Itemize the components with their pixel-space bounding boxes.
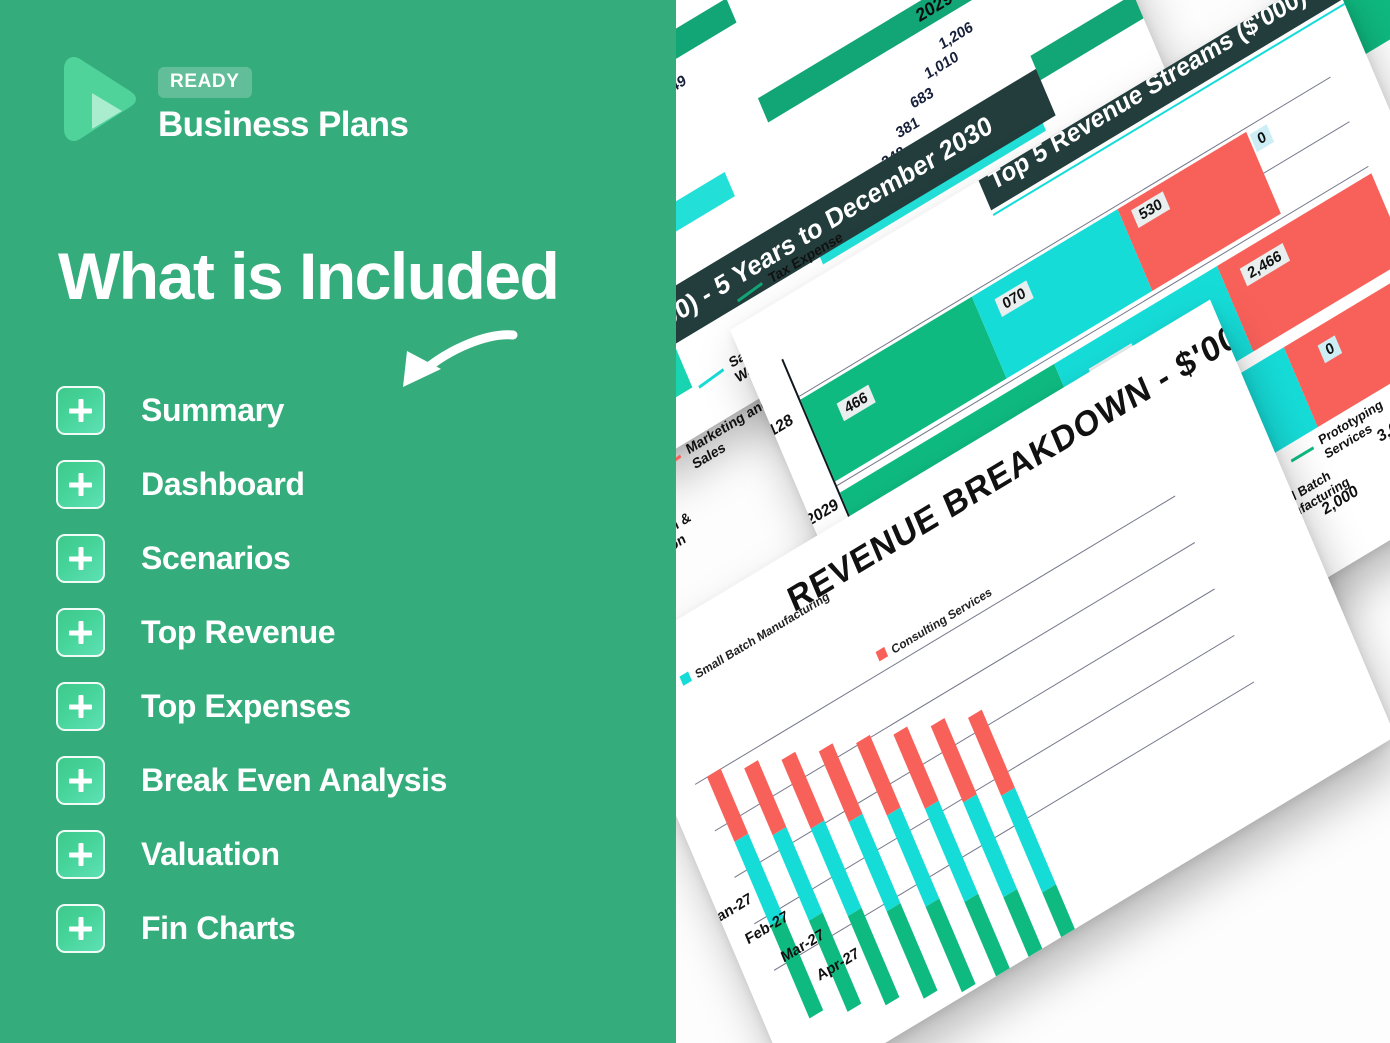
feature-item-scenarios[interactable]: Scenarios [56, 534, 656, 583]
feature-item-dashboard[interactable]: Dashboard [56, 460, 656, 509]
feature-item-top-expenses[interactable]: Top Expenses [56, 682, 656, 731]
feature-label: Dashboard [141, 466, 305, 503]
feature-list: Summary Dashboard Scenarios Top Revenue … [56, 386, 656, 978]
table-cell: 381 [894, 114, 922, 143]
feature-item-fin-charts[interactable]: Fin Charts [56, 904, 656, 953]
ready-badge: READY [158, 67, 252, 98]
plus-icon [56, 608, 105, 657]
left-green-panel: READY Business Plans What is Included Su… [0, 0, 676, 1043]
spreadsheet-artwork: Company Name Table of Contents 128.9 31 … [640, 0, 1390, 1043]
plus-icon [56, 534, 105, 583]
legend-label-consulting: Consulting Services [889, 584, 993, 656]
table-cell: 1,010 [922, 48, 961, 83]
feature-label: Break Even Analysis [141, 762, 447, 799]
feature-item-valuation[interactable]: Valuation [56, 830, 656, 879]
plus-icon [56, 460, 105, 509]
plus-icon [56, 386, 105, 435]
legend-marker-smallbatch [679, 671, 692, 685]
feature-label: Top Expenses [141, 688, 351, 725]
plus-icon [56, 756, 105, 805]
feature-item-summary[interactable]: Summary [56, 386, 656, 435]
feature-label: Scenarios [141, 540, 290, 577]
legend-marker-tax [737, 282, 763, 302]
play-triangle-icon [60, 55, 138, 143]
legend-marker-consulting [876, 647, 889, 661]
breakdown-month-label: Jan-27 [707, 890, 754, 930]
brand-text: READY Business Plans [158, 55, 408, 145]
feature-item-top-revenue[interactable]: Top Revenue [56, 608, 656, 657]
plus-icon [56, 904, 105, 953]
table-cell: 683 [908, 84, 936, 113]
brand-name: Business Plans [158, 105, 408, 145]
brand-lockup: READY Business Plans [60, 55, 408, 145]
feature-label: Top Revenue [141, 614, 335, 651]
feature-label: Summary [141, 392, 284, 429]
feature-item-break-even-analysis[interactable]: Break Even Analysis [56, 756, 656, 805]
promo-graphic: Company Name Table of Contents 128.9 31 … [0, 0, 1390, 1043]
legend-marker-prototyping [1291, 446, 1314, 462]
feature-label: Valuation [141, 836, 280, 873]
legend-marker-salaries [698, 368, 724, 388]
legend-label-smallbatch: Small Batch Manufacturing [693, 589, 831, 682]
table-cell: 1,206 [937, 18, 976, 53]
plus-icon [56, 682, 105, 731]
plus-icon [56, 830, 105, 879]
page-title: What is Included [58, 243, 558, 309]
feature-label: Fin Charts [141, 910, 295, 947]
